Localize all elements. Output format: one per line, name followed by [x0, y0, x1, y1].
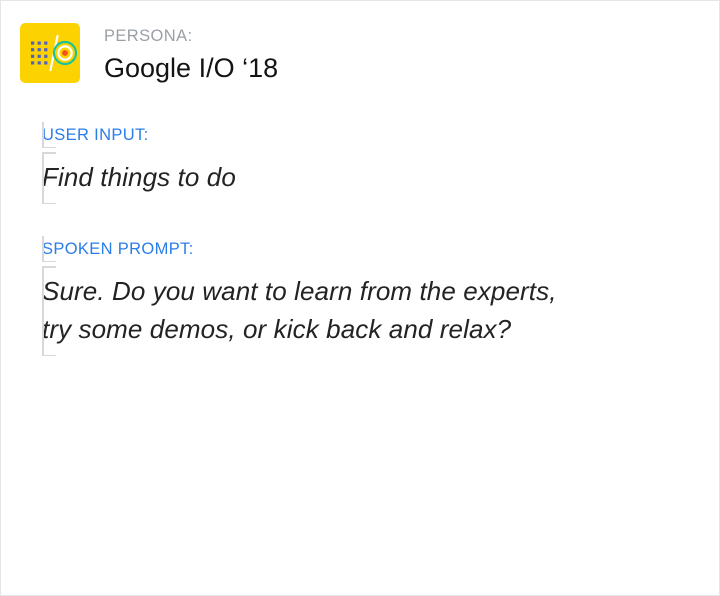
persona-header: PERSONA: Google I/O ‘18 — [1, 1, 719, 86]
persona-text-group: PERSONA: Google I/O ‘18 — [104, 25, 278, 86]
spoken-prompt-label: SPOKEN PROMPT: — [42, 240, 194, 258]
user-input-section: USER INPUT: Find things to do — [20, 122, 719, 204]
spoken-prompt-text: Sure. Do you want to learn from the expe… — [42, 266, 719, 356]
persona-label: PERSONA: — [104, 25, 278, 47]
persona-name: Google I/O ‘18 — [104, 50, 278, 86]
user-input-label: USER INPUT: — [42, 126, 149, 144]
spoken-prompt-text-line: try some demos, or kick back and relax? — [42, 310, 719, 348]
google-io-logo-icon — [20, 23, 80, 83]
spoken-prompt-body-row: Sure. Do you want to learn from the expe… — [42, 266, 719, 356]
persona-prompt-card: PERSONA: Google I/O ‘18 USER INPUT: Find… — [0, 0, 720, 596]
user-input-body-row: Find things to do — [42, 152, 719, 204]
user-input-label-row: USER INPUT: — [42, 122, 719, 148]
spoken-prompt-label-row: SPOKEN PROMPT: — [42, 236, 719, 262]
spoken-prompt-text-line: Sure. Do you want to learn from the expe… — [42, 272, 719, 310]
spoken-prompt-section: SPOKEN PROMPT: Sure. Do you want to lear… — [20, 236, 719, 356]
user-input-text: Find things to do — [42, 152, 719, 204]
user-input-text-line: Find things to do — [42, 158, 719, 196]
